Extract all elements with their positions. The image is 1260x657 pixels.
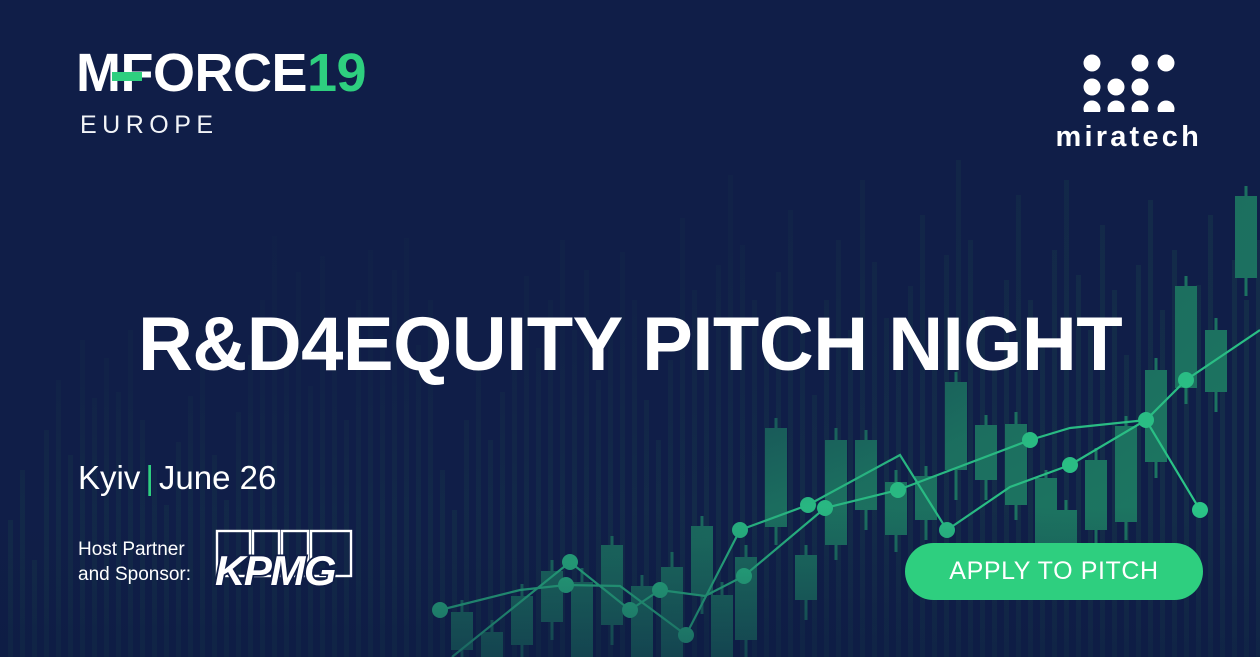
miratech-wordmark: miratech: [1056, 123, 1203, 152]
event-dateline: Kyiv|June 26: [78, 461, 276, 494]
page-title: R&D4EQUITY PITCH NIGHT: [138, 307, 1122, 383]
miratech-logo[interactable]: miratech: [1056, 52, 1203, 152]
logo-word-force: FORCE: [120, 43, 307, 103]
event-logo-subtitle: EUROPE: [80, 113, 366, 138]
apply-to-pitch-button[interactable]: APPLY TO PITCH: [905, 543, 1203, 600]
miratech-dot-grid-icon: [1081, 52, 1177, 112]
event-logo-wordmark: MFORCE19: [76, 46, 366, 100]
host-partner-label-line2: and Sponsor:: [78, 562, 191, 587]
apply-to-pitch-label: APPLY TO PITCH: [949, 559, 1158, 584]
host-partner-label: Host Partner and Sponsor:: [78, 533, 191, 587]
green-dash-icon: [112, 72, 142, 81]
event-date: June 26: [159, 459, 276, 496]
event-logo[interactable]: MFORCE19 EUROPE: [76, 46, 366, 138]
dateline-separator: |: [140, 459, 159, 496]
host-partner-block: Host Partner and Sponsor: KPMG: [78, 533, 371, 595]
kpmg-logo-icon[interactable]: KPMG: [211, 527, 371, 595]
logo-year: 19: [307, 43, 366, 103]
event-banner: MFORCE19 EUROPE miratech R&D4EQUITY PITC…: [0, 0, 1260, 657]
kpmg-wordmark: KPMG: [215, 547, 336, 594]
event-city: Kyiv: [78, 459, 140, 496]
trend-markers-group: [432, 372, 1208, 643]
host-partner-label-line1: Host Partner: [78, 537, 191, 562]
